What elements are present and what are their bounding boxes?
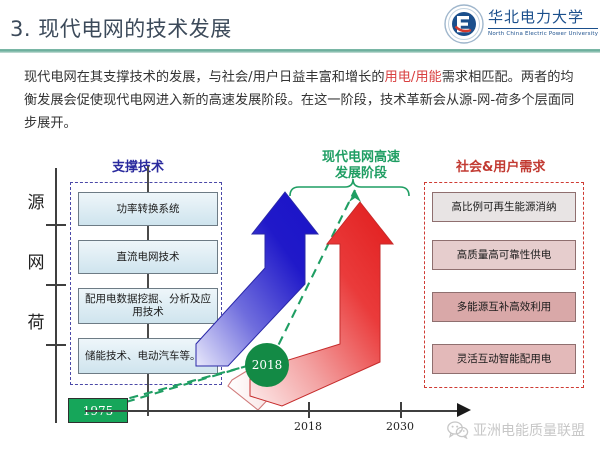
timeline-tick-2018 bbox=[308, 402, 310, 418]
wechat-icon bbox=[447, 421, 469, 439]
university-emblem-icon bbox=[444, 4, 484, 44]
logo-subtitle: North China Electric Power University bbox=[488, 28, 598, 37]
logo-name: 华北电力大学 bbox=[488, 6, 584, 27]
timeline-label-2018: 2018 bbox=[285, 420, 331, 433]
dashed-up-arrow-icon bbox=[349, 190, 361, 202]
watermark-text: 亚洲电能质量联盟 bbox=[473, 420, 585, 440]
paragraph-part-1: 现代电网在其支撑技术的发展，与社会/用户日益丰富和增长的 bbox=[24, 70, 385, 85]
curly-brace-icon bbox=[290, 179, 409, 196]
diagram: 支撑技术 社会&用户需求 现代电网高速 发展阶段 源 网 荷 功率转换系统 直流… bbox=[0, 148, 600, 450]
slide: 3. 现代电网的技术发展 华北电力大学 North China Electric… bbox=[0, 0, 600, 450]
paragraph-highlight: 用电/用能 bbox=[385, 70, 442, 85]
right-arrow-icon bbox=[457, 403, 471, 417]
year-marker-2018[interactable]: 2018 bbox=[245, 343, 289, 387]
university-logo: 华北电力大学 North China Electric Power Univer… bbox=[444, 3, 594, 47]
blue-growth-arrow-icon bbox=[196, 192, 318, 366]
timeline-tick-2030 bbox=[400, 402, 402, 418]
slide-header: 3. 现代电网的技术发展 华北电力大学 North China Electric… bbox=[0, 0, 600, 52]
timeline-axis bbox=[85, 410, 460, 412]
watermark: 亚洲电能质量联盟 bbox=[447, 418, 597, 442]
body-paragraph: 现代电网在其支撑技术的发展，与社会/用户日益丰富和增长的用电/用能需求相匹配。两… bbox=[24, 66, 580, 135]
page-title: 3. 现代电网的技术发展 bbox=[10, 13, 232, 43]
timeline-label-2030: 2030 bbox=[377, 420, 423, 433]
header-divider bbox=[0, 49, 600, 53]
